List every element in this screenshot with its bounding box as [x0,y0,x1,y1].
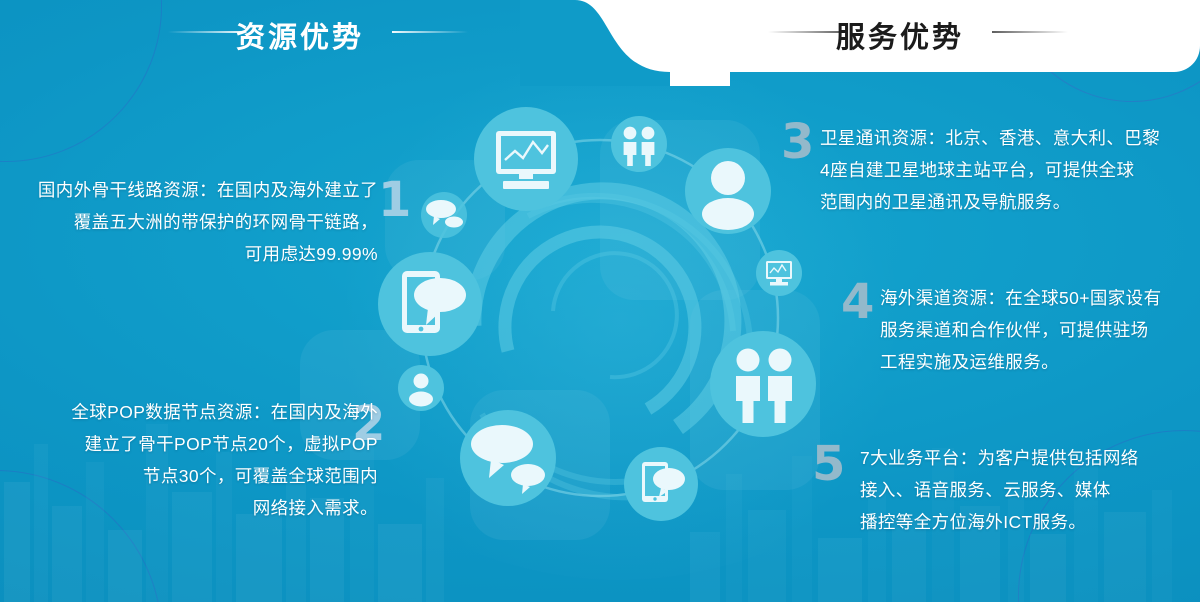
node-two-people-large [710,331,816,437]
item-line: 工程实施及运维服务。 [880,346,1200,378]
node-tablet-chat-medium [624,447,698,521]
item-text-4: 海外渠道资源：在全球50+国家设有 服务渠道和合作伙伴，可提供驻场 工程实施及运… [880,282,1200,378]
item-line: 7大业务平台：为客户提供包括网络 [860,442,1190,474]
item-line: 节点30个，可覆盖全球范围内 [8,460,378,492]
node-two-people-small [611,116,667,172]
header-title-left: 资源优势 [0,14,600,56]
central-network-graphic [378,96,818,536]
item-line: 范围内的卫星通讯及导航服务。 [820,186,1190,218]
item-text-2: 全球POP数据节点资源：在国内及海外 建立了骨干POP节点20个，虚拟POP 节… [8,396,378,524]
item-line: 网络接入需求。 [8,492,378,524]
item-line: 可用虑达99.99% [8,238,378,270]
node-monitor-chart-tiny [756,250,802,296]
item-number-4: 4 [841,278,874,326]
infographic-stage: 资源优势 服务优势 1 国内外骨干线路资源：在国内及海外建立了 覆盖五大洲的带保… [0,0,1200,602]
item-line: 海外渠道资源：在全球50+国家设有 [880,282,1200,314]
item-number-5: 5 [812,440,845,488]
item-number-3: 3 [781,118,814,166]
item-line: 建立了骨干POP节点20个，虚拟POP [8,428,378,460]
header-title-right: 服务优势 [600,14,1200,56]
item-line: 服务渠道和合作伙伴，可提供驻场 [880,314,1200,346]
item-line: 播控等全方位海外ICT服务。 [860,506,1190,538]
item-line: 4座自建卫星地球主站平台，可提供全球 [820,154,1190,186]
node-tablet-chat-large [378,252,482,356]
node-person-avatar-large [685,148,771,234]
item-number-1: 1 [378,176,411,224]
node-monitor-chart-large [474,107,578,211]
item-line: 覆盖五大洲的带保护的环网骨干链路， [8,206,378,238]
item-line: 卫星通讯资源：北京、香港、意大利、巴黎 [820,122,1190,154]
node-chat-bubbles-tiny [421,192,467,238]
item-line: 全球POP数据节点资源：在国内及海外 [8,396,378,428]
node-person-avatar-tiny [398,365,444,411]
item-text-1: 国内外骨干线路资源：在国内及海外建立了 覆盖五大洲的带保护的环网骨干链路， 可用… [8,174,378,270]
item-text-3: 卫星通讯资源：北京、香港、意大利、巴黎 4座自建卫星地球主站平台，可提供全球 范… [820,122,1190,218]
header-bar: 资源优势 服务优势 [0,0,1200,86]
item-line: 国内外骨干线路资源：在国内及海外建立了 [8,174,378,206]
node-chat-bubbles-large [460,410,556,506]
item-line: 接入、语音服务、云服务、媒体 [860,474,1190,506]
item-text-5: 7大业务平台：为客户提供包括网络 接入、语音服务、云服务、媒体 播控等全方位海外… [860,442,1190,538]
